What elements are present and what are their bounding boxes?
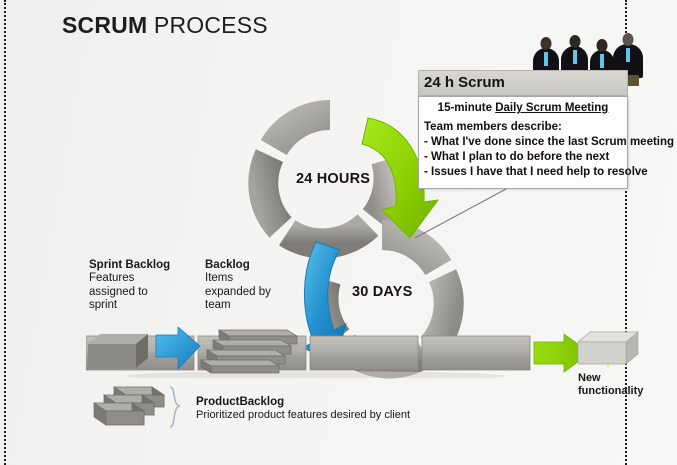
new-functionality-block — [578, 328, 640, 370]
product-backlog-heading: ProductBacklog — [196, 396, 410, 408]
new-functionality-line2: functionality — [578, 385, 643, 398]
backlog-line: team — [205, 299, 271, 313]
callout-duration: 15-minute — [438, 102, 496, 114]
backlog-line: Items — [205, 272, 271, 286]
sprint-backlog-line: sprint — [89, 299, 170, 313]
backlog-label: Backlog Items expanded by team — [205, 259, 271, 313]
callout-title: 24 h Scrum — [424, 74, 505, 91]
backlog-stepped-blocks — [197, 326, 307, 374]
title-regular-part: PROCESS — [147, 12, 267, 38]
blue-right-arrow — [152, 327, 202, 375]
sprint-backlog-label: Sprint Backlog Features assigned to spri… — [89, 259, 170, 313]
backlog-heading: Backlog — [205, 259, 271, 271]
callout-leader-line — [413, 186, 508, 241]
callout-bullet: - What I've done since the last Scrum me… — [424, 135, 674, 150]
callout-bullet: - Issues I have that I need help to reso… — [424, 165, 674, 180]
product-backlog-label: ProductBacklog Prioritized product featu… — [196, 396, 410, 423]
callout-body: Team members describe: - What I've done … — [424, 120, 674, 180]
callout-bullet: - What I plan to do before the next — [424, 150, 674, 165]
ring-label-30-days: 30 DAYS — [352, 284, 413, 300]
new-functionality-line1: New — [578, 372, 643, 385]
sprint-backlog-block — [88, 330, 150, 372]
callout-heading-line: 15-minute Daily Scrum Meeting — [419, 102, 627, 114]
sprint-backlog-line: assigned to — [89, 286, 170, 300]
title-bold-part: SCRUM — [62, 12, 147, 38]
sprint-backlog-heading: Sprint Backlog — [89, 259, 170, 271]
scrum-process-diagram: SCRUM PROCESS — [0, 0, 677, 465]
product-backlog-line: Prioritized product features desired by … — [196, 409, 410, 423]
product-backlog-blocks — [92, 385, 190, 431]
left-dotted-border — [4, 0, 6, 465]
sprint-backlog-line: Features — [89, 272, 170, 286]
backlog-line: expanded by — [205, 286, 271, 300]
callout-intro: Team members describe: — [424, 120, 674, 135]
new-functionality-label: New functionality — [578, 372, 643, 398]
daily-scrum-callout: 15-minute Daily Scrum Meeting Team membe… — [418, 96, 628, 189]
page-title: SCRUM PROCESS — [62, 12, 268, 39]
ring-label-24-hours: 24 HOURS — [296, 171, 370, 187]
callout-meeting-name: Daily Scrum Meeting — [495, 102, 608, 114]
